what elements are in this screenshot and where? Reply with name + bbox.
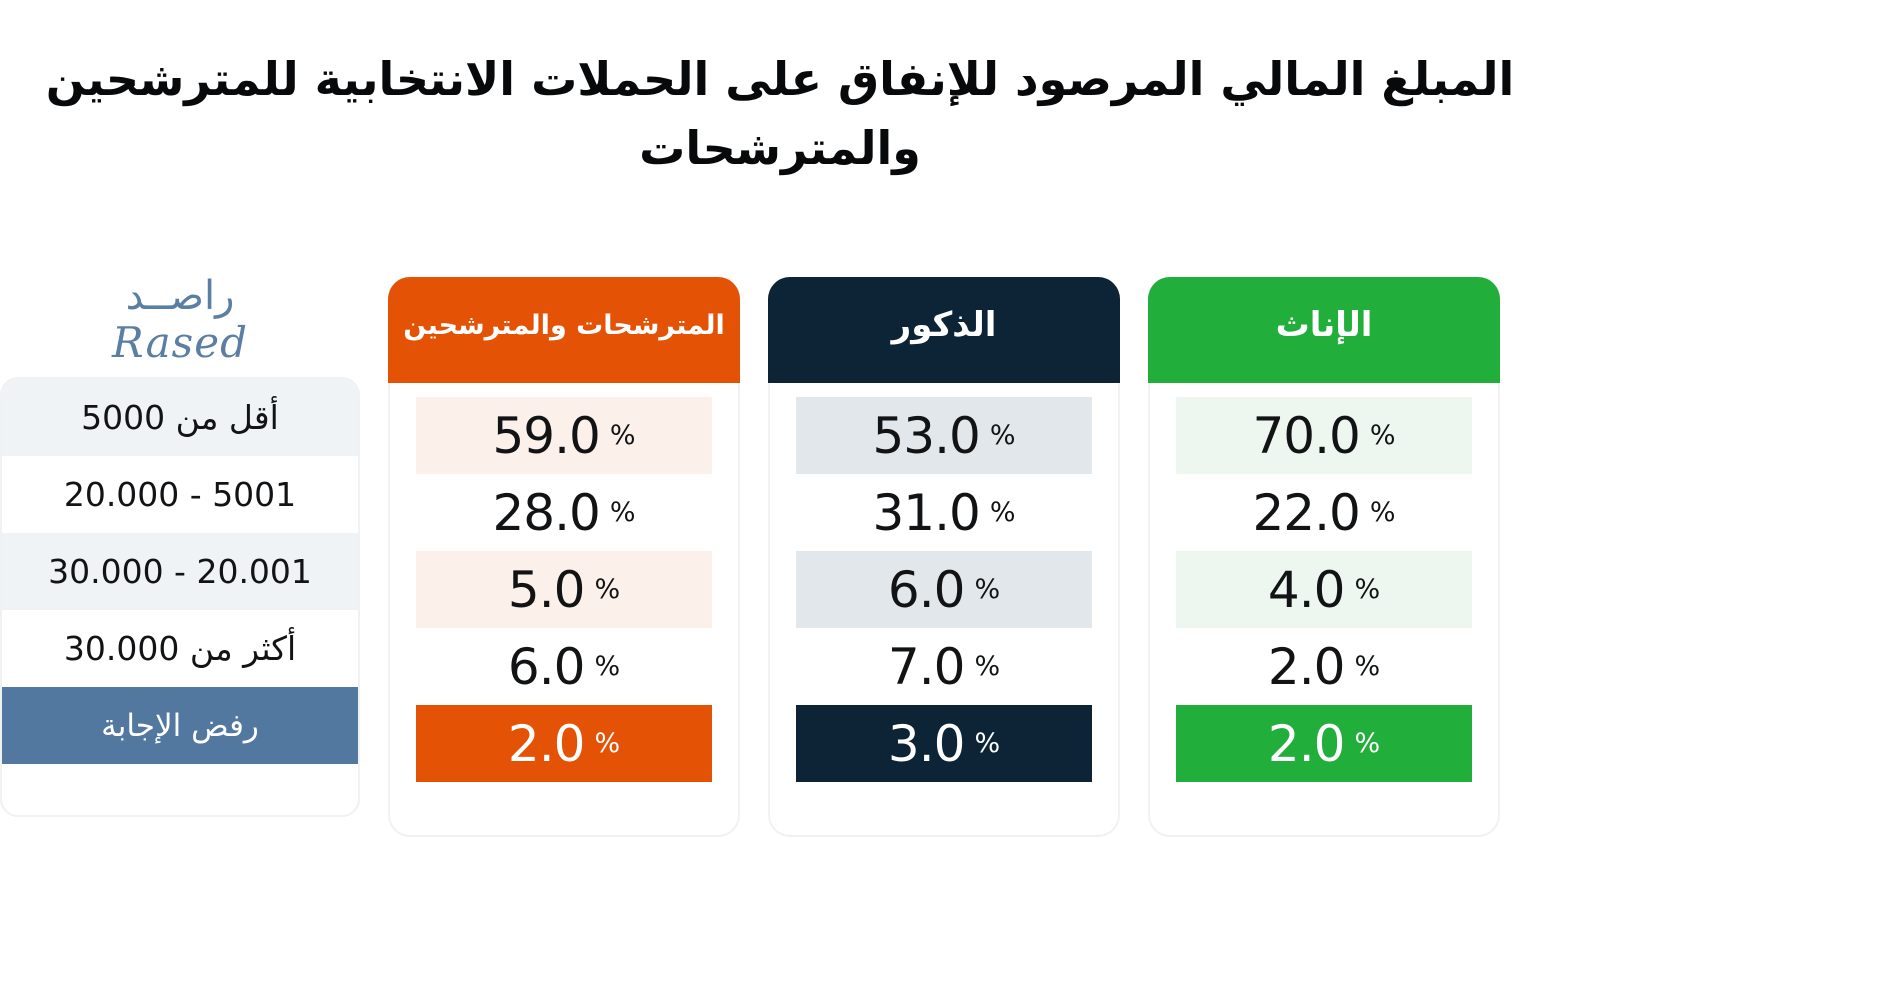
value-row: 5.0 % [416, 551, 712, 628]
value-text: 53.0 [873, 411, 980, 461]
legend-row: 5001 - 20.000 [2, 456, 358, 533]
page-title: المبلغ المالي المرصود للإنفاق على الحملا… [0, 45, 1560, 183]
percent-sign: % [594, 576, 620, 603]
percent-sign: % [1354, 653, 1380, 680]
value-text: 2.0 [1268, 719, 1345, 769]
percent-sign: % [974, 653, 1000, 680]
value-row: 59.0 % [416, 397, 712, 474]
rased-logo: راصــد Rased [0, 276, 360, 364]
percent-sign: % [974, 730, 1000, 757]
value-text: 5.0 [508, 565, 585, 615]
percent-sign: % [1370, 422, 1396, 449]
value-text: 6.0 [508, 642, 585, 692]
columns-board: راصــد Rased أقل من 5000 5001 - 20.000 2… [0, 277, 1560, 837]
percent-sign: % [990, 499, 1016, 526]
value-row-highlight: 2.0 % [416, 705, 712, 782]
value-text: 31.0 [873, 488, 980, 538]
value-row-highlight: 3.0 % [796, 705, 1092, 782]
percent-sign: % [990, 422, 1016, 449]
legend-row-refused: رفض الإجابة [2, 687, 358, 764]
legend-label: رفض الإجابة [101, 708, 259, 744]
percent-sign: % [1354, 576, 1380, 603]
value-text: 6.0 [888, 565, 965, 615]
value-row: 53.0 % [796, 397, 1092, 474]
value-row-highlight: 2.0 % [1176, 705, 1472, 782]
value-row: 22.0 % [1176, 474, 1472, 551]
logo-arabic-text: راصــد [0, 276, 360, 316]
value-text: 59.0 [493, 411, 600, 461]
percent-sign: % [1354, 730, 1380, 757]
value-row: 28.0 % [416, 474, 712, 551]
value-row: 70.0 % [1176, 397, 1472, 474]
legend-label: 20.001 - 30.000 [48, 552, 312, 591]
legend-row: أقل من 5000 [2, 379, 358, 456]
value-text: 3.0 [888, 719, 965, 769]
value-row: 6.0 % [796, 551, 1092, 628]
value-text: 22.0 [1253, 488, 1360, 538]
scallop-edge-icon [388, 370, 740, 384]
legend-row: أكثر من 30.000 [2, 610, 358, 687]
value-row: 4.0 % [1176, 551, 1472, 628]
value-rows-candidates: 59.0 % 28.0 % 5.0 % 6.0 % 2.0 % [390, 397, 738, 782]
value-text: 2.0 [1268, 642, 1345, 692]
percent-sign: % [974, 576, 1000, 603]
legend-label: أكثر من 30.000 [64, 629, 296, 668]
value-row: 6.0 % [416, 628, 712, 705]
value-row: 31.0 % [796, 474, 1092, 551]
legend-label: أقل من 5000 [81, 398, 279, 437]
value-text: 4.0 [1268, 565, 1345, 615]
column-header-label: المترشحات والمترشحين [403, 310, 724, 351]
percent-sign: % [610, 499, 636, 526]
column-card-candidates: المترشحات والمترشحين 59.0 % 28.0 % 5.0 %… [388, 277, 740, 837]
column-header-label: الإناث [1276, 305, 1373, 355]
value-text: 7.0 [888, 642, 965, 692]
percent-sign: % [610, 422, 636, 449]
legend-panel: راصــد Rased أقل من 5000 5001 - 20.000 2… [0, 277, 360, 837]
column-header-candidates: المترشحات والمترشحين [388, 277, 740, 383]
legend-list: أقل من 5000 5001 - 20.000 20.001 - 30.00… [0, 377, 360, 817]
legend-label: 5001 - 20.000 [64, 475, 296, 514]
column-header-females: الإناث [1148, 277, 1500, 383]
column-header-label: الذكور [892, 305, 997, 355]
logo-latin-text: Rased [0, 322, 360, 364]
column-card-males: الذكور 53.0 % 31.0 % 6.0 % 7.0 % [768, 277, 1120, 837]
percent-sign: % [594, 730, 620, 757]
percent-sign: % [594, 653, 620, 680]
infographic-page: المبلغ المالي المرصود للإنفاق على الحملا… [0, 0, 1890, 1004]
column-header-males: الذكور [768, 277, 1120, 383]
scallop-edge-icon [768, 370, 1120, 384]
value-row: 2.0 % [1176, 628, 1472, 705]
legend-row: 20.001 - 30.000 [2, 533, 358, 610]
value-text: 2.0 [508, 719, 585, 769]
value-rows-males: 53.0 % 31.0 % 6.0 % 7.0 % 3.0 % [770, 397, 1118, 782]
value-row: 7.0 % [796, 628, 1092, 705]
value-rows-females: 70.0 % 22.0 % 4.0 % 2.0 % 2.0 % [1150, 397, 1498, 782]
value-text: 28.0 [493, 488, 600, 538]
column-card-females: الإناث 70.0 % 22.0 % 4.0 % 2.0 % [1148, 277, 1500, 837]
value-text: 70.0 [1253, 411, 1360, 461]
scallop-edge-icon [1148, 370, 1500, 384]
percent-sign: % [1370, 499, 1396, 526]
